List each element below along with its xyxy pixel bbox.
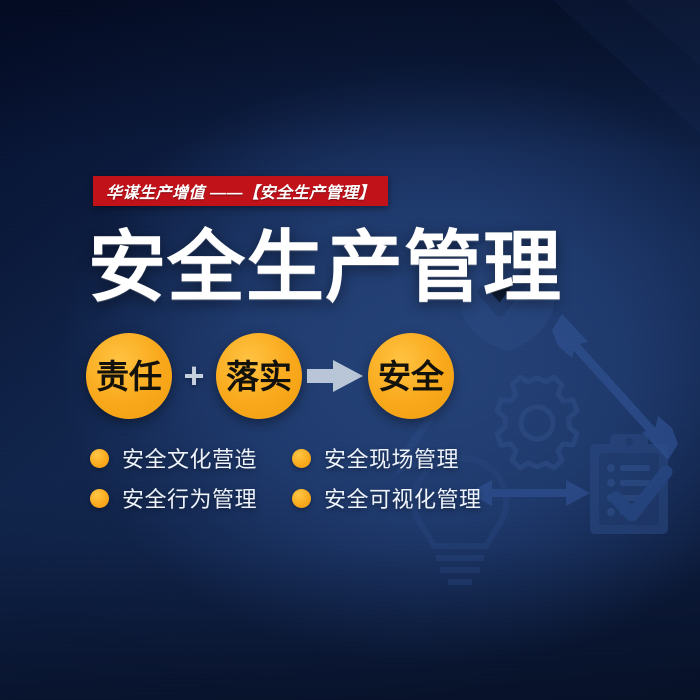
bullet-dot-icon [90, 489, 109, 508]
badge-implementation-label: 落实 [226, 360, 292, 393]
page-title: 安全生产管理 [88, 228, 562, 306]
list-item-label: 安全可视化管理 [324, 482, 482, 514]
list-item-label: 安全行为管理 [122, 482, 257, 514]
list-item: 安全文化营造 [90, 438, 292, 478]
ribbon-label: 华谋生产增值 ——【安全生产管理】 [106, 179, 375, 203]
bullet-dot-icon [292, 489, 311, 508]
badge-responsibility-label: 责任 [96, 360, 162, 393]
badge-implementation: 落实 [216, 333, 302, 419]
plus-operator: + [172, 358, 216, 394]
list-item-label: 安全文化营造 [122, 442, 257, 474]
ribbon-banner: 华谋生产增值 ——【安全生产管理】 [93, 176, 388, 206]
feature-list: 安全文化营造 安全现场管理 安全行为管理 安全可视化管理 [90, 438, 482, 518]
corner-wedge-decoration [520, 0, 700, 170]
arrow-double-diagonal-icon [550, 312, 680, 462]
bullet-dot-icon [292, 449, 311, 468]
badge-safety: 安全 [368, 333, 454, 419]
list-item: 安全行为管理 [90, 478, 292, 518]
arrow-right-icon [302, 359, 368, 393]
list-item: 安全可视化管理 [292, 478, 482, 518]
list-item-label: 安全现场管理 [324, 442, 459, 474]
badge-responsibility: 责任 [86, 333, 172, 419]
list-item: 安全现场管理 [292, 438, 482, 478]
bullet-dot-icon [90, 449, 109, 468]
poster-canvas: 华谋生产增值 ——【安全生产管理】 安全生产管理 责任 + 落实 安全 [0, 0, 700, 700]
badge-safety-label: 安全 [378, 360, 444, 393]
formula-row: 责任 + 落实 安全 [86, 333, 454, 419]
